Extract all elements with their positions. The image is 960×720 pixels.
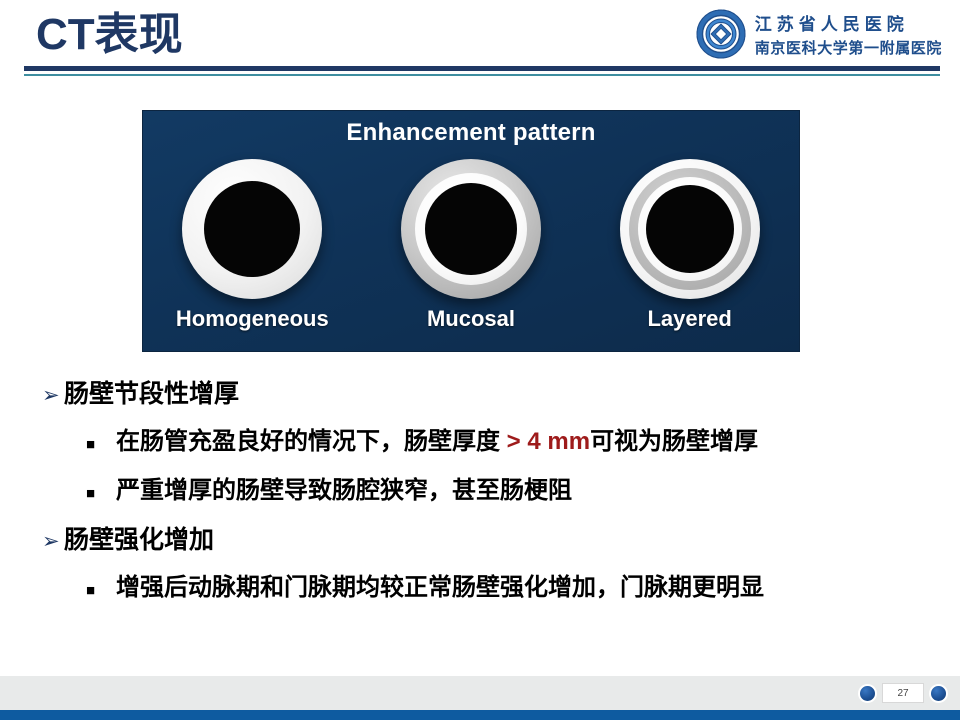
hospital-emblem-icon xyxy=(695,8,747,60)
page-number: 27 xyxy=(882,683,924,703)
ring-label-layered: Layered xyxy=(600,306,780,332)
bullet-text: 肠壁节段性增厚 xyxy=(64,376,922,412)
hospital-logo: 江苏省人民医院 南京医科大学第一附属医院 xyxy=(695,8,942,60)
bullet-text-after: 可视为肠壁增厚 xyxy=(590,428,758,455)
hospital-name-secondary: 南京医科大学第一附属医院 xyxy=(755,37,942,58)
bullet-text: 严重增厚的肠壁导致肠腔狭窄，甚至肠梗阻 xyxy=(116,473,922,509)
threshold-value: > 4 mm xyxy=(507,428,590,455)
square-bullet-icon: ■ xyxy=(86,427,116,463)
ring-diagram-mucosal xyxy=(401,159,541,299)
bullet-text-before: 在肠管充盈良好的情况下，肠壁厚度 xyxy=(116,428,507,455)
bullet-text: 在肠管充盈良好的情况下，肠壁厚度 > 4 mm可视为肠壁增厚 xyxy=(116,424,922,460)
hospital-logo-text: 江苏省人民医院 南京医科大学第一附属医院 xyxy=(755,10,942,58)
bowel-wall-ring-row xyxy=(143,159,799,299)
ring-label-homogeneous: Homogeneous xyxy=(162,306,342,332)
ring-diagram-layered xyxy=(620,159,760,299)
bullet-level1-wall-thickening: ➢ 肠壁节段性增厚 xyxy=(42,376,922,414)
arrow-bullet-icon: ➢ xyxy=(42,524,64,560)
bullet-level1-enhancement: ➢ 肠壁强化增加 xyxy=(42,522,922,560)
page-title: CT表现 xyxy=(36,8,183,62)
slide-body: ➢ 肠壁节段性增厚 ■ 在肠管充盈良好的情况下，肠壁厚度 > 4 mm可视为肠壁… xyxy=(42,376,922,619)
next-slide-dot-icon[interactable] xyxy=(931,686,946,701)
bullet-level2-phase-enhancement: ■ 增强后动脉期和门脉期均较正常肠壁强化增加，门脉期更明显 xyxy=(86,570,922,609)
footer-bar xyxy=(0,710,960,720)
hospital-name-primary: 江苏省人民医院 xyxy=(755,10,942,35)
footer-navigation: 27 xyxy=(860,683,946,703)
bowel-lumen xyxy=(204,181,300,277)
ring-diagram-homogeneous xyxy=(182,159,322,299)
previous-slide-dot-icon[interactable] xyxy=(860,686,875,701)
bullet-level2-luminal-narrowing: ■ 严重增厚的肠壁导致肠腔狭窄，甚至肠梗阻 xyxy=(86,473,922,512)
bowel-lumen xyxy=(646,185,734,273)
bowel-lumen xyxy=(425,183,517,275)
header-rule-primary xyxy=(24,66,940,71)
bullet-text: 肠壁强化增加 xyxy=(64,522,922,558)
enhancement-pattern-figure: Enhancement pattern Homogeneous Mucosal … xyxy=(142,110,800,352)
arrow-bullet-icon: ➢ xyxy=(42,378,64,414)
slide-header: CT表现 江苏省人民医院 南京医科大学第一附属医院 xyxy=(0,0,960,90)
header-rule-secondary xyxy=(24,74,940,76)
square-bullet-icon: ■ xyxy=(86,573,116,609)
ring-label-row: Homogeneous Mucosal Layered xyxy=(143,299,799,339)
footer-band xyxy=(0,676,960,710)
square-bullet-icon: ■ xyxy=(86,476,116,512)
bullet-text: 增强后动脉期和门脉期均较正常肠壁强化增加，门脉期更明显 xyxy=(116,570,922,606)
figure-title: Enhancement pattern xyxy=(143,119,799,147)
ring-label-mucosal: Mucosal xyxy=(381,306,561,332)
bullet-level2-thickness-threshold: ■ 在肠管充盈良好的情况下，肠壁厚度 > 4 mm可视为肠壁增厚 xyxy=(86,424,922,463)
